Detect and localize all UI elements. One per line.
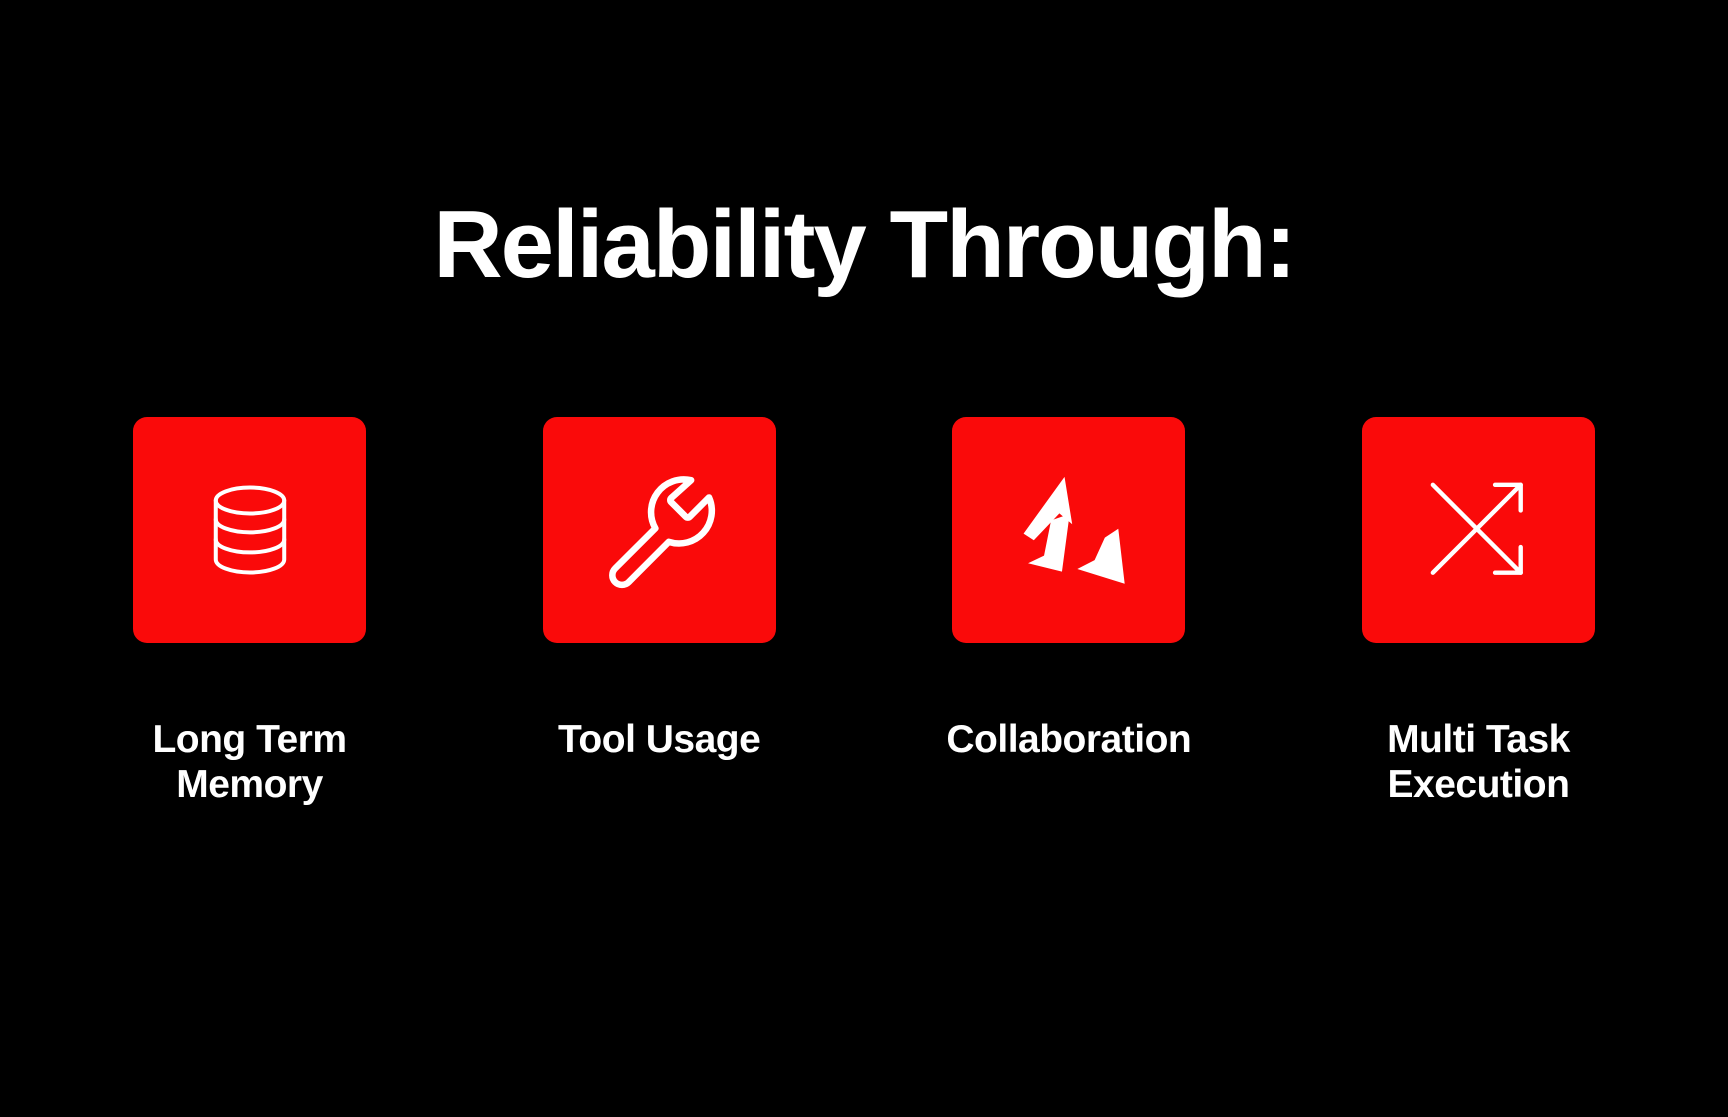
feature-card-label: Tool Usage [558, 718, 760, 763]
wrench-icon [596, 467, 722, 593]
icon-tile [952, 417, 1185, 643]
feature-card-label: Long Term Memory [152, 718, 346, 808]
database-icon [191, 471, 309, 589]
feature-card-multi-task-execution[interactable]: Multi Task Execution [1362, 417, 1595, 808]
feature-card-collaboration[interactable]: Collaboration [952, 417, 1185, 808]
shuffle-arrows-icon [1417, 469, 1539, 591]
slide-canvas: Reliability Through: Long Term Memory [0, 0, 1728, 1117]
feature-card-row: Long Term Memory Tool Usage [133, 417, 1595, 808]
recycle-arrows-icon [1005, 471, 1133, 589]
feature-card-label: Collaboration [946, 718, 1191, 763]
feature-card-long-term-memory[interactable]: Long Term Memory [133, 417, 366, 808]
page-title: Reliability Through: [0, 195, 1728, 296]
icon-tile [133, 417, 366, 643]
feature-card-label: Multi Task Execution [1387, 718, 1570, 808]
icon-tile [543, 417, 776, 643]
icon-tile [1362, 417, 1595, 643]
feature-card-tool-usage[interactable]: Tool Usage [543, 417, 776, 808]
